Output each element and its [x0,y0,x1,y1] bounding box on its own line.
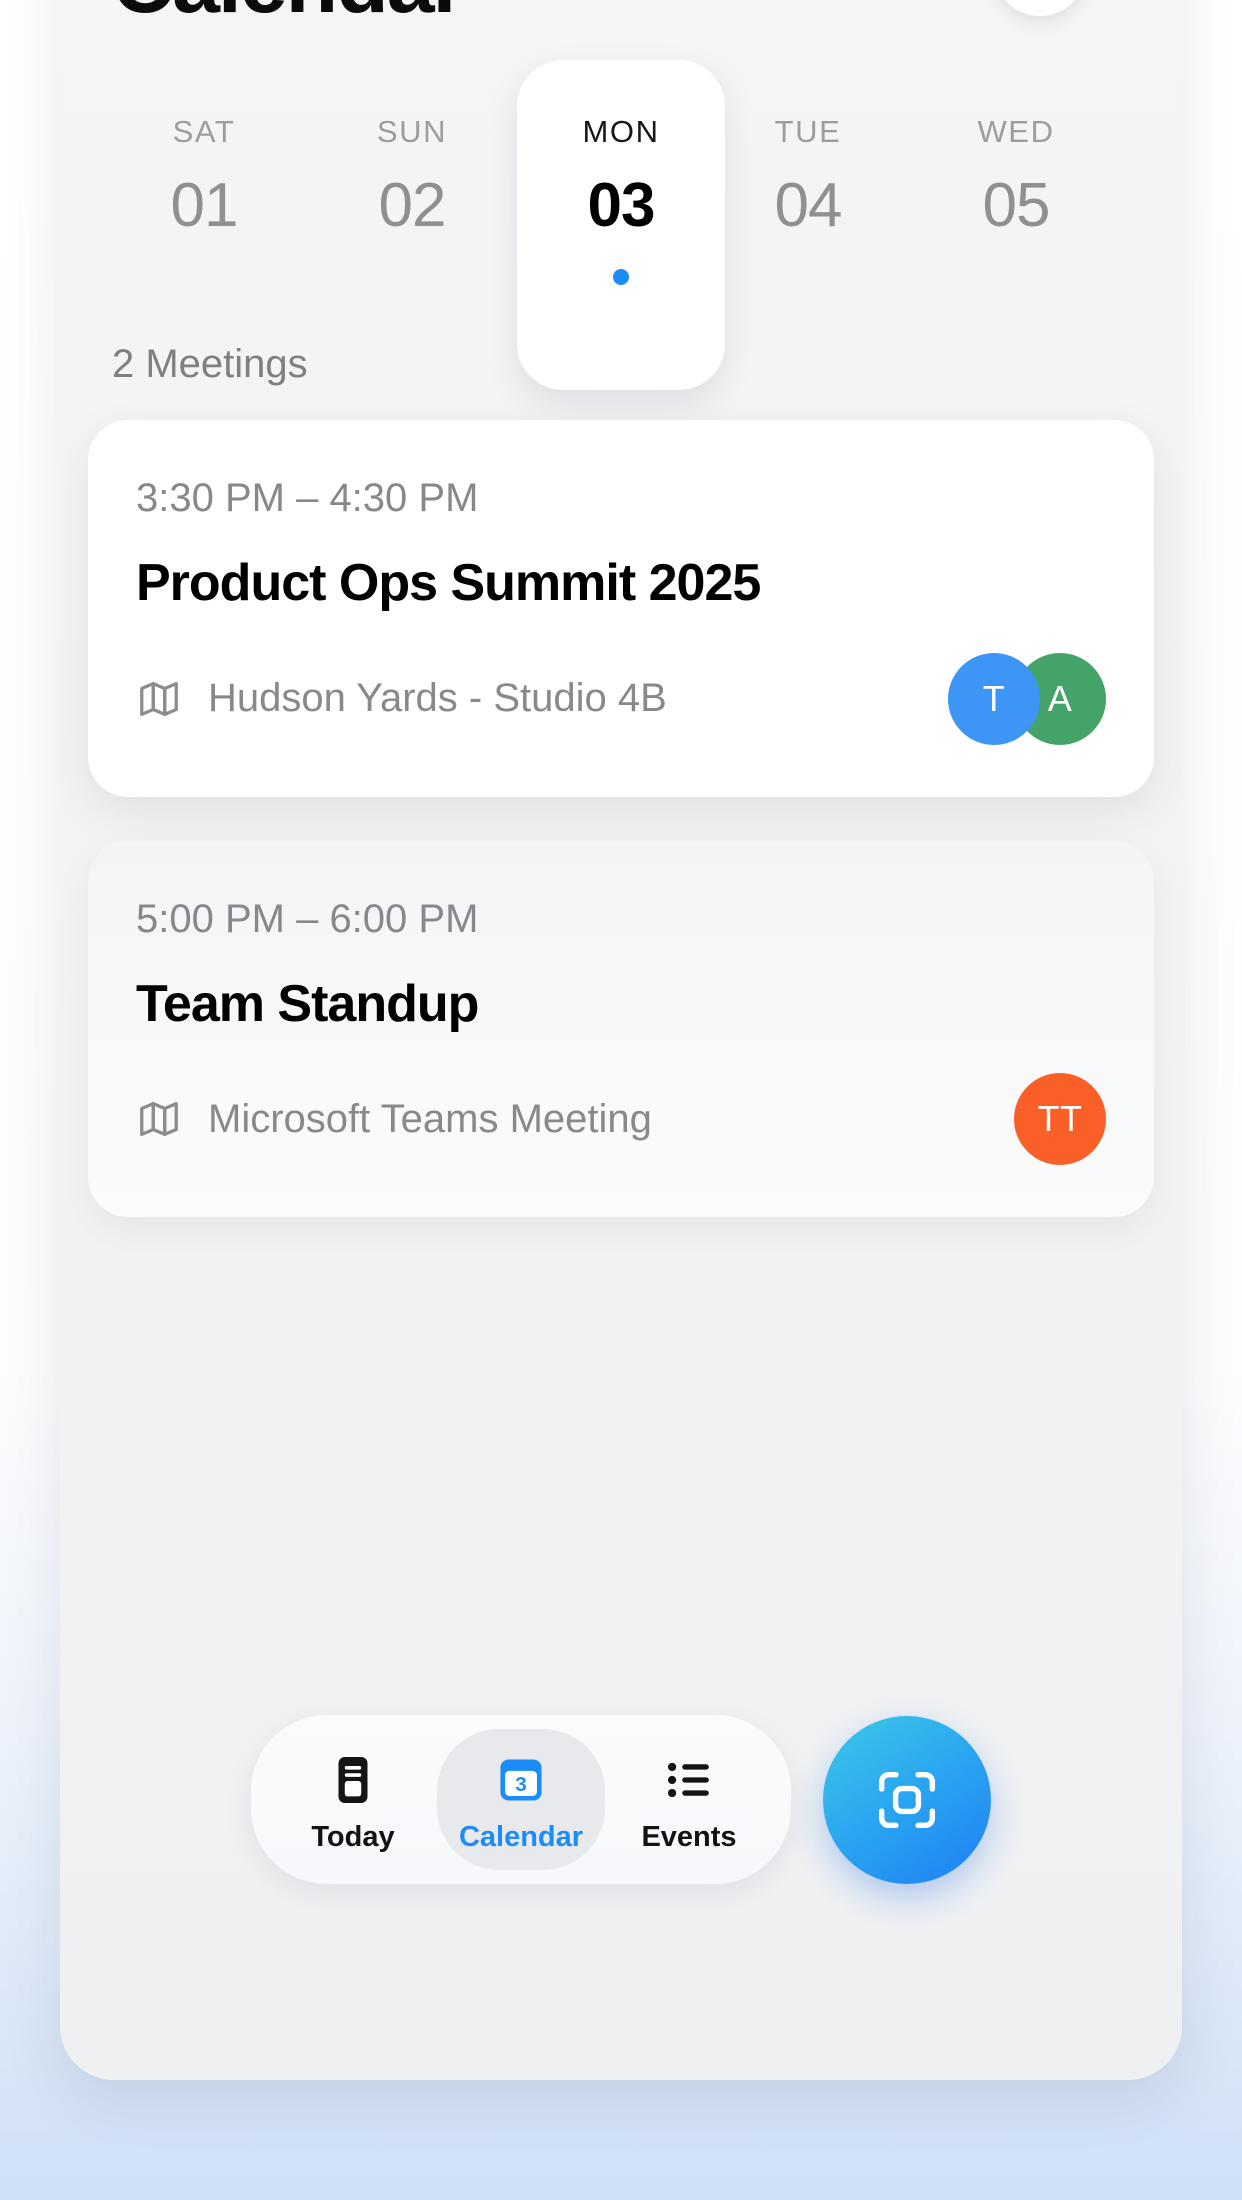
tab-today[interactable]: Today [269,1729,437,1870]
tab-bar: Today 3 Calendar [251,1715,791,1884]
scan-frame-icon [869,1762,945,1838]
week-day-strip: SAT 01 SUN 02 MON 03 TUE 04 WED 05 [60,60,1182,390]
page-title: Calendar [112,0,1112,26]
event-title: Product Ops Summit 2025 [136,556,1106,611]
day-of-week-label: SAT [129,116,279,147]
day-cell-wed[interactable]: WED 05 [941,116,1091,237]
attendee-avatars[interactable]: T A [948,653,1106,745]
tab-events[interactable]: Events [605,1729,773,1870]
event-location-label: Hudson Yards - Studio 4B [208,676,667,721]
day-cell-sat[interactable]: SAT 01 [129,116,279,237]
event-footer: Hudson Yards - Studio 4B T A [136,653,1106,745]
calendar-3-icon: 3 [492,1751,550,1809]
event-indicator-dot [613,269,629,285]
tab-calendar[interactable]: 3 Calendar [437,1729,605,1870]
note-card-icon [324,1751,382,1809]
day-cell-sun[interactable]: SUN 02 [337,116,487,237]
event-footer: Microsoft Teams Meeting TT [136,1073,1106,1165]
tab-label: Events [641,1823,736,1852]
calendar-app-panel: Calendar SAT 01 SUN 02 MON 03 TUE 04 [60,0,1182,2080]
tab-label: Calendar [459,1823,583,1852]
svg-text:3: 3 [515,1773,527,1796]
event-title: Team Standup [136,977,1106,1032]
event-time: 5:00 PM – 6:00 PM [136,899,1106,939]
attendee-avatar[interactable]: TT [1014,1073,1106,1165]
day-cell-mon-selected[interactable]: MON 03 [517,60,725,390]
bottom-navigation: Today 3 Calendar [60,1715,1182,1884]
day-number-label: 04 [733,175,883,237]
map-icon [136,1096,182,1142]
day-of-week-label: SUN [337,116,487,147]
tab-label: Today [311,1823,394,1852]
scan-fab-button[interactable] [823,1716,991,1884]
event-time: 3:30 PM – 4:30 PM [136,478,1106,518]
event-location: Hudson Yards - Studio 4B [136,676,667,722]
day-number-label: 02 [337,175,487,237]
day-of-week-label: WED [941,116,1091,147]
day-of-week-label: MON [517,116,725,147]
day-cell-tue[interactable]: TUE 04 [733,116,883,237]
app-header: Calendar [112,0,1112,26]
bulleted-list-icon [660,1751,718,1809]
event-list: 3:30 PM – 4:30 PM Product Ops Summit 202… [60,420,1182,1261]
day-of-week-label: TUE [733,116,883,147]
attendee-avatars[interactable]: TT [1014,1073,1106,1165]
day-number-label: 01 [129,175,279,237]
event-card[interactable]: 5:00 PM – 6:00 PM Team Standup Microsoft… [88,841,1154,1218]
event-location-label: Microsoft Teams Meeting [208,1097,652,1142]
event-location: Microsoft Teams Meeting [136,1096,652,1142]
day-number-label: 03 [517,175,725,237]
event-card[interactable]: 3:30 PM – 4:30 PM Product Ops Summit 202… [88,420,1154,797]
map-icon [136,676,182,722]
attendee-avatar[interactable]: T [948,653,1040,745]
meetings-count-label: 2 Meetings [112,342,308,387]
day-number-label: 05 [941,175,1091,237]
app-screen: Calendar SAT 01 SUN 02 MON 03 TUE 04 [0,0,1242,2200]
